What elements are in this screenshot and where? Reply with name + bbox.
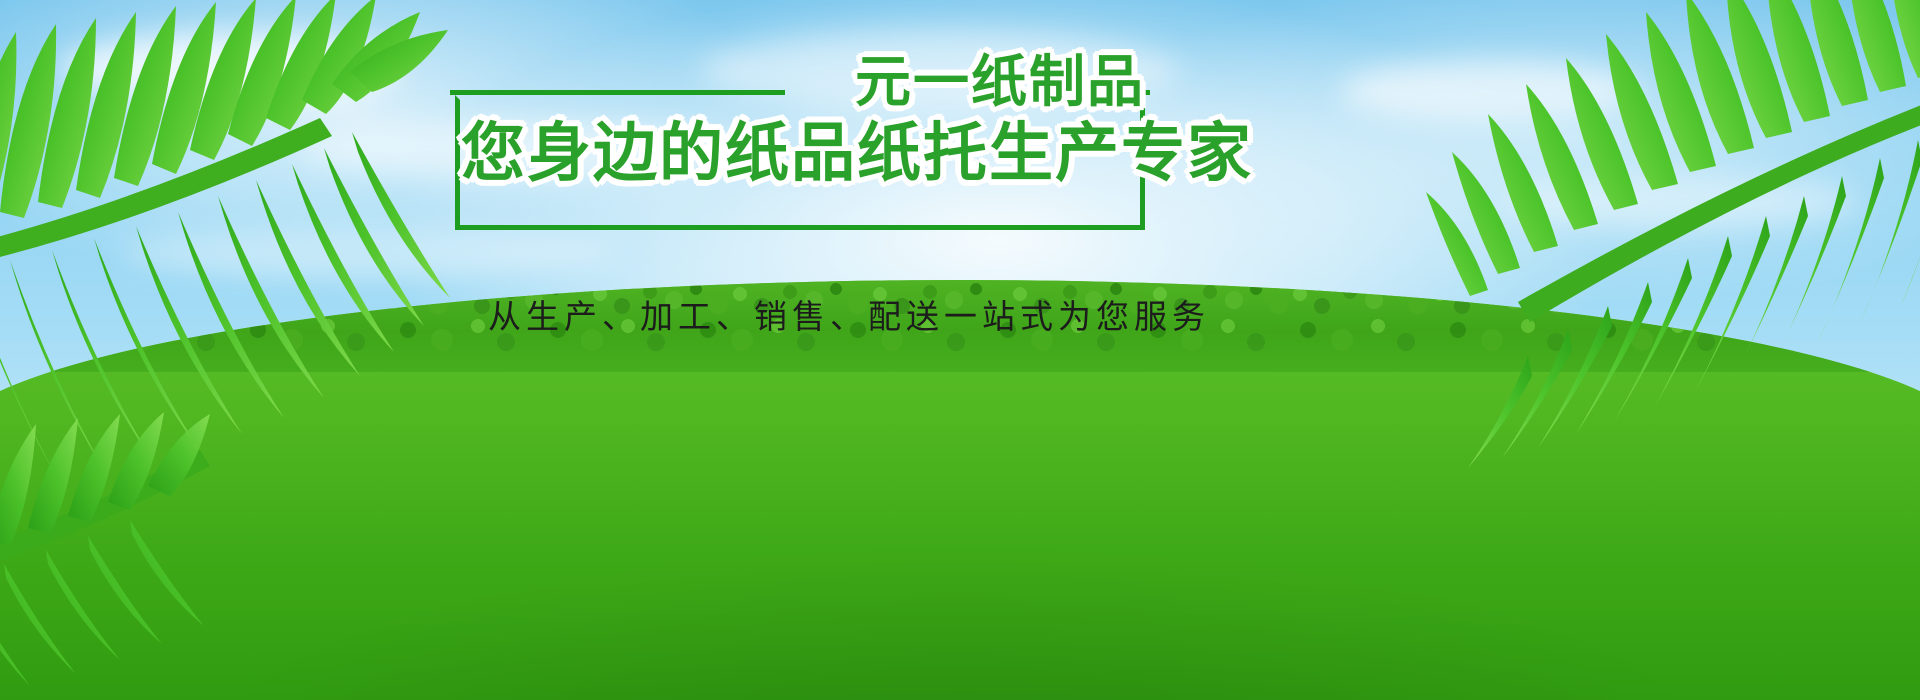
product-showcase [0,450,1920,700]
headline-tagline: 您身边的纸品纸托生产专家 [461,119,1253,189]
subtitle-text: 从生产、加工、销售、配送一站式为您服务 [488,290,1210,338]
frame-top-corner [1145,90,1150,95]
brand-title: 元一纸制品 [855,53,1145,113]
headline-frame: 元一纸制品 您身边的纸品纸托生产专家 [455,95,1145,230]
frame-top-rule [450,90,785,95]
promo-banner: 元一纸制品 您身边的纸品纸托生产专家 从生产、加工、销售、配送一站式为您服务 [0,0,1920,700]
palm-leaf-icon [1280,0,1920,470]
